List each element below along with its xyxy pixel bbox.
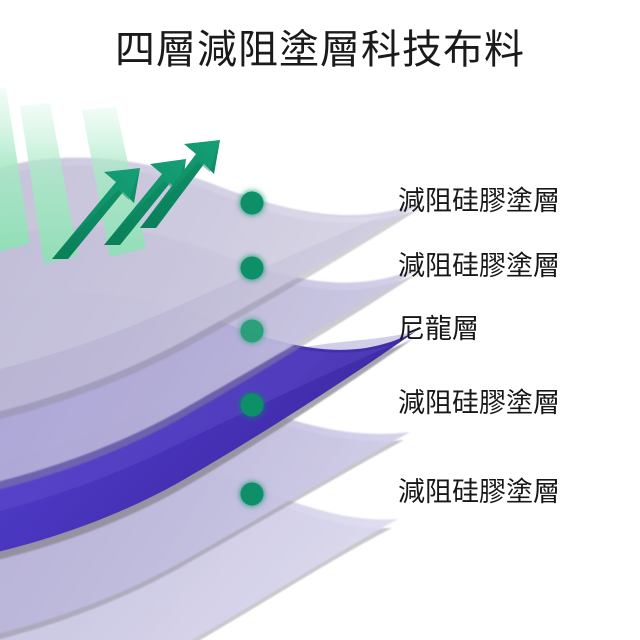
- callout-label-5: 減阻硅膠塗層: [398, 478, 560, 508]
- callout-dot-2: [241, 257, 264, 280]
- callout-label-1: 減阻硅膠塗層: [398, 187, 560, 217]
- callout-label-4: 減阻硅膠塗層: [398, 389, 560, 419]
- callout-dot-1: [241, 192, 264, 215]
- callout-dot-3: [241, 320, 264, 343]
- callout-dot-5: [241, 483, 264, 506]
- callout-label-2: 減阻硅膠塗層: [398, 252, 560, 282]
- callout-label-3: 尼龍層: [398, 315, 479, 345]
- layer-stack-illustration: [0, 0, 640, 640]
- callout-dot-4: [241, 394, 264, 417]
- infographic-page: 四層減阻塗層科技布料: [0, 0, 640, 640]
